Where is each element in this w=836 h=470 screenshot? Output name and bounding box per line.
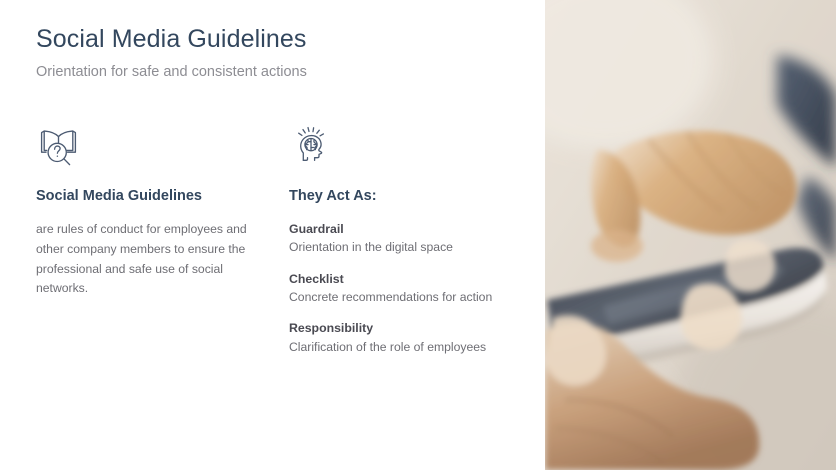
act-item-desc: Orientation in the digital space xyxy=(289,238,524,256)
page-title: Social Media Guidelines xyxy=(36,25,307,54)
page-subtitle: Orientation for safe and consistent acti… xyxy=(36,64,307,80)
content-panel: Social Media Guidelines Orientation for … xyxy=(0,0,545,470)
head-brain-idea-icon xyxy=(289,126,524,170)
act-as-list: Guardrail Orientation in the digital spa… xyxy=(289,220,524,356)
act-item-desc: Clarification of the role of employees xyxy=(289,338,524,356)
column-they-act-as-heading: They Act As: xyxy=(289,186,524,206)
column-guidelines-body: are rules of conduct for employees and o… xyxy=(36,220,251,299)
list-item: Guardrail Orientation in the digital spa… xyxy=(289,220,524,257)
slide-root: Social Media Guidelines Orientation for … xyxy=(0,0,836,470)
column-guidelines: Social Media Guidelines are rules of con… xyxy=(36,126,251,299)
list-item: Checklist Concrete recommendations for a… xyxy=(289,270,524,307)
act-item-term: Checklist xyxy=(289,270,524,288)
hero-photo-illustration xyxy=(545,0,836,470)
column-guidelines-heading: Social Media Guidelines xyxy=(36,186,251,206)
act-item-term: Responsibility xyxy=(289,319,524,337)
book-magnifier-question-icon xyxy=(36,126,251,170)
act-item-desc: Concrete recommendations for action xyxy=(289,288,524,306)
list-item: Responsibility Clarification of the role… xyxy=(289,319,524,356)
act-item-term: Guardrail xyxy=(289,220,524,238)
hero-photo xyxy=(545,0,836,470)
column-they-act-as: They Act As: Guardrail Orientation in th… xyxy=(289,126,524,356)
